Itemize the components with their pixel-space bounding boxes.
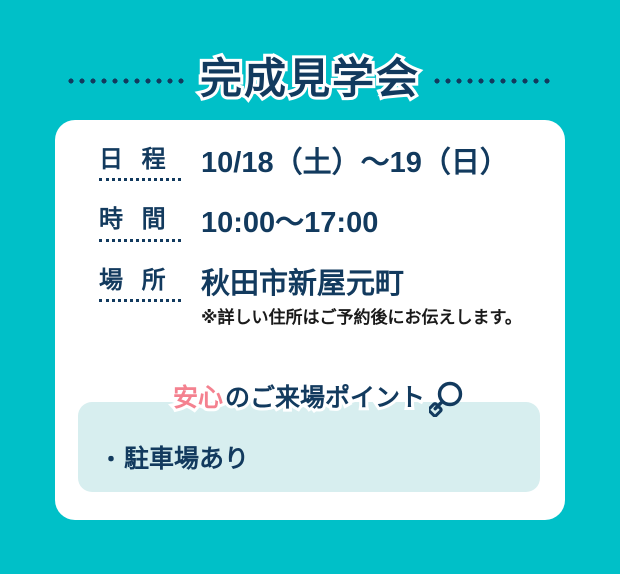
dotted-line-icon-left xyxy=(68,78,186,84)
info-label-time: 時 間 xyxy=(99,207,181,241)
visit-points-heading-accent: 安心 xyxy=(173,386,223,411)
info-card: 日 程 10/18（土）〜19（日） 時 間 10:00〜17:00 場 所 秋… xyxy=(55,120,565,520)
page-title: 完成見学会 xyxy=(200,58,420,100)
info-value-schedule: 10/18（土）〜19（日） xyxy=(201,147,549,180)
poster-header: 完成見学会 xyxy=(0,48,620,110)
list-item-label: 駐車場あり xyxy=(124,444,249,474)
info-row: 日 程 10/18（土）〜19（日） xyxy=(99,147,549,181)
info-value-place: 秋田市新屋元町 xyxy=(201,268,549,301)
list-item: ・ 駐車場あり xyxy=(98,444,518,474)
info-row: 場 所 秋田市新屋元町 ※詳しい住所はご予約後にお伝えします。 xyxy=(99,268,549,329)
info-value-time: 10:00〜17:00 xyxy=(201,207,549,240)
info-list: 日 程 10/18（土）〜19（日） 時 間 10:00〜17:00 場 所 秋… xyxy=(99,147,549,329)
info-value-group: 秋田市新屋元町 ※詳しい住所はご予約後にお伝えします。 xyxy=(181,268,549,329)
visit-points-heading: 安心 のご来場ポイント xyxy=(173,378,463,418)
info-row: 時 間 10:00〜17:00 xyxy=(99,207,549,241)
visit-points-list: ・ 駐車場あり xyxy=(98,444,518,474)
event-info-poster: 完成見学会 日 程 10/18（土）〜19（日） 時 間 10:00〜17:00 xyxy=(0,0,620,574)
magnifying-glass-icon xyxy=(429,381,463,417)
info-value-group: 10/18（土）〜19（日） xyxy=(181,147,549,180)
info-note-place: ※詳しい住所はご予約後にお伝えします。 xyxy=(201,307,549,329)
info-label-place: 場 所 xyxy=(99,268,181,302)
info-value-group: 10:00〜17:00 xyxy=(181,207,549,240)
dotted-line-icon-right xyxy=(434,78,552,84)
bullet-icon: ・ xyxy=(98,447,124,473)
visit-points-heading-rest: のご来場ポイント xyxy=(225,386,425,411)
info-label-schedule: 日 程 xyxy=(99,147,181,181)
visit-points-panel: 安心 のご来場ポイント ・ 駐車場あり xyxy=(78,402,540,492)
